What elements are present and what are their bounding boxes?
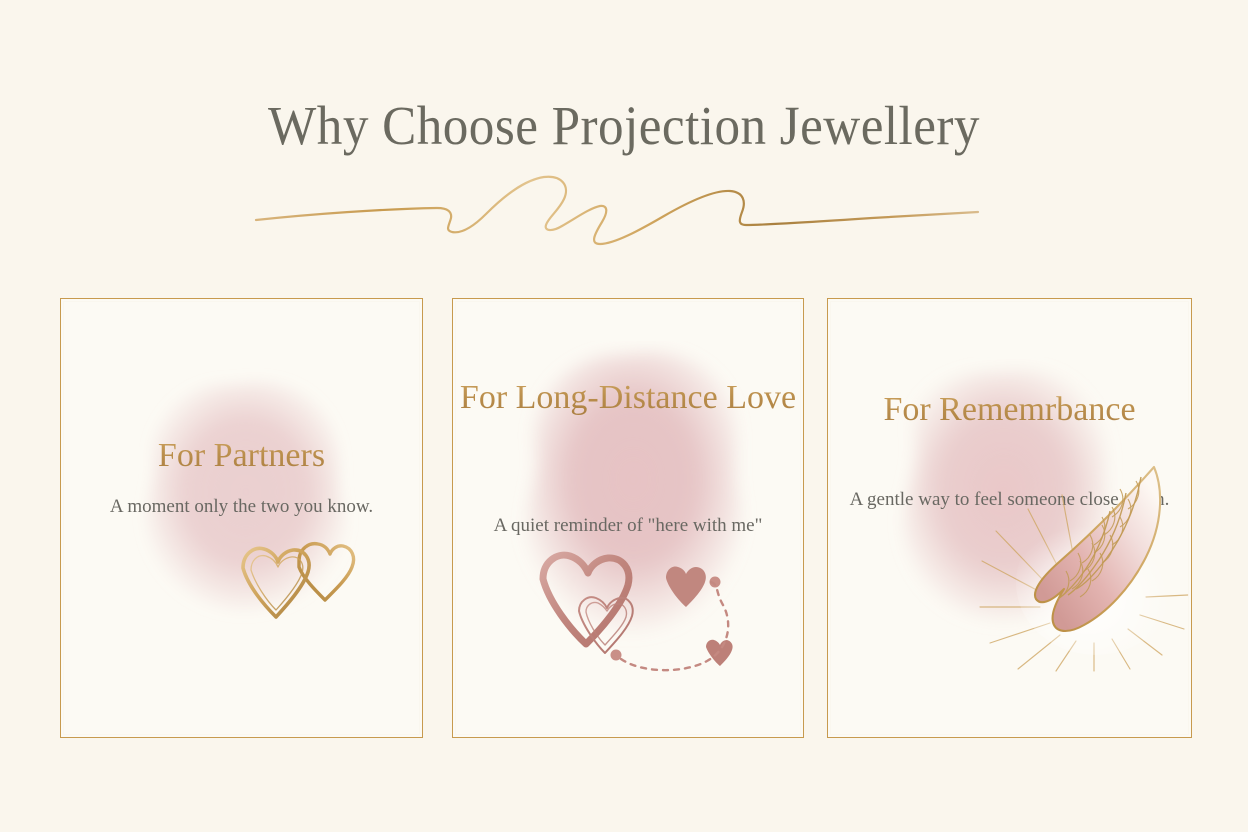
angel-wing-with-rays-icon [978, 447, 1190, 672]
card-heading: For Partners [61, 435, 422, 477]
rose-hearts-with-dashed-path-icon [537, 549, 737, 673]
interlocking-gold-hearts-icon [235, 535, 361, 631]
feature-card-partners[interactable]: For Partners A moment only the two you k… [60, 298, 423, 738]
card-heading: For Rememrbance [828, 389, 1191, 431]
page-title: Why Choose Projection Jewellery [44, 92, 1205, 160]
feature-card-long-distance[interactable]: For Long-Distance Love A quiet reminder … [452, 298, 804, 738]
card-heading: For Long-Distance Love [453, 377, 803, 419]
card-subtitle: A gentle way to feel someone close again… [828, 487, 1191, 512]
card-subtitle: A moment only the two you know. [61, 494, 422, 519]
calligraphic-swirl-divider-icon [252, 168, 982, 246]
feature-card-remembrance[interactable]: For Rememrbance A gentle way to feel som… [827, 298, 1192, 738]
card-subtitle: A quiet reminder of "here with me" [453, 513, 803, 538]
feature-card-row: For Partners A moment only the two you k… [0, 298, 1248, 740]
page-header: Why Choose Projection Jewellery [0, 0, 1248, 270]
